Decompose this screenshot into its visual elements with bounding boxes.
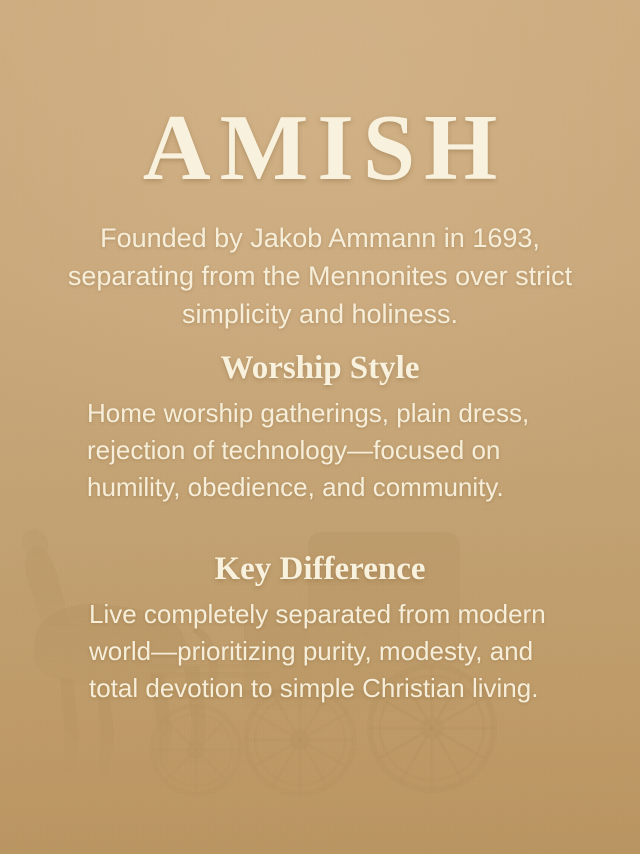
section-body-key-difference: Live completely separated from modern wo… xyxy=(67,596,573,707)
amish-infographic-poster: AMISH Founded by Jakob Ammann in 1693, s… xyxy=(0,0,640,854)
section-heading-key-difference: Key Difference xyxy=(0,549,640,589)
page-title: AMISH xyxy=(0,101,640,195)
section-worship-style: Worship Style Home worship gatherings, p… xyxy=(0,348,640,506)
intro-paragraph: Founded by Jakob Ammann in 1693, separat… xyxy=(66,219,574,333)
poster-content: AMISH Founded by Jakob Ammann in 1693, s… xyxy=(0,0,640,854)
section-key-difference: Key Difference Live completely separated… xyxy=(0,549,640,707)
section-body-worship-style: Home worship gatherings, plain dress, re… xyxy=(67,395,573,506)
section-heading-worship-style: Worship Style xyxy=(0,348,640,388)
